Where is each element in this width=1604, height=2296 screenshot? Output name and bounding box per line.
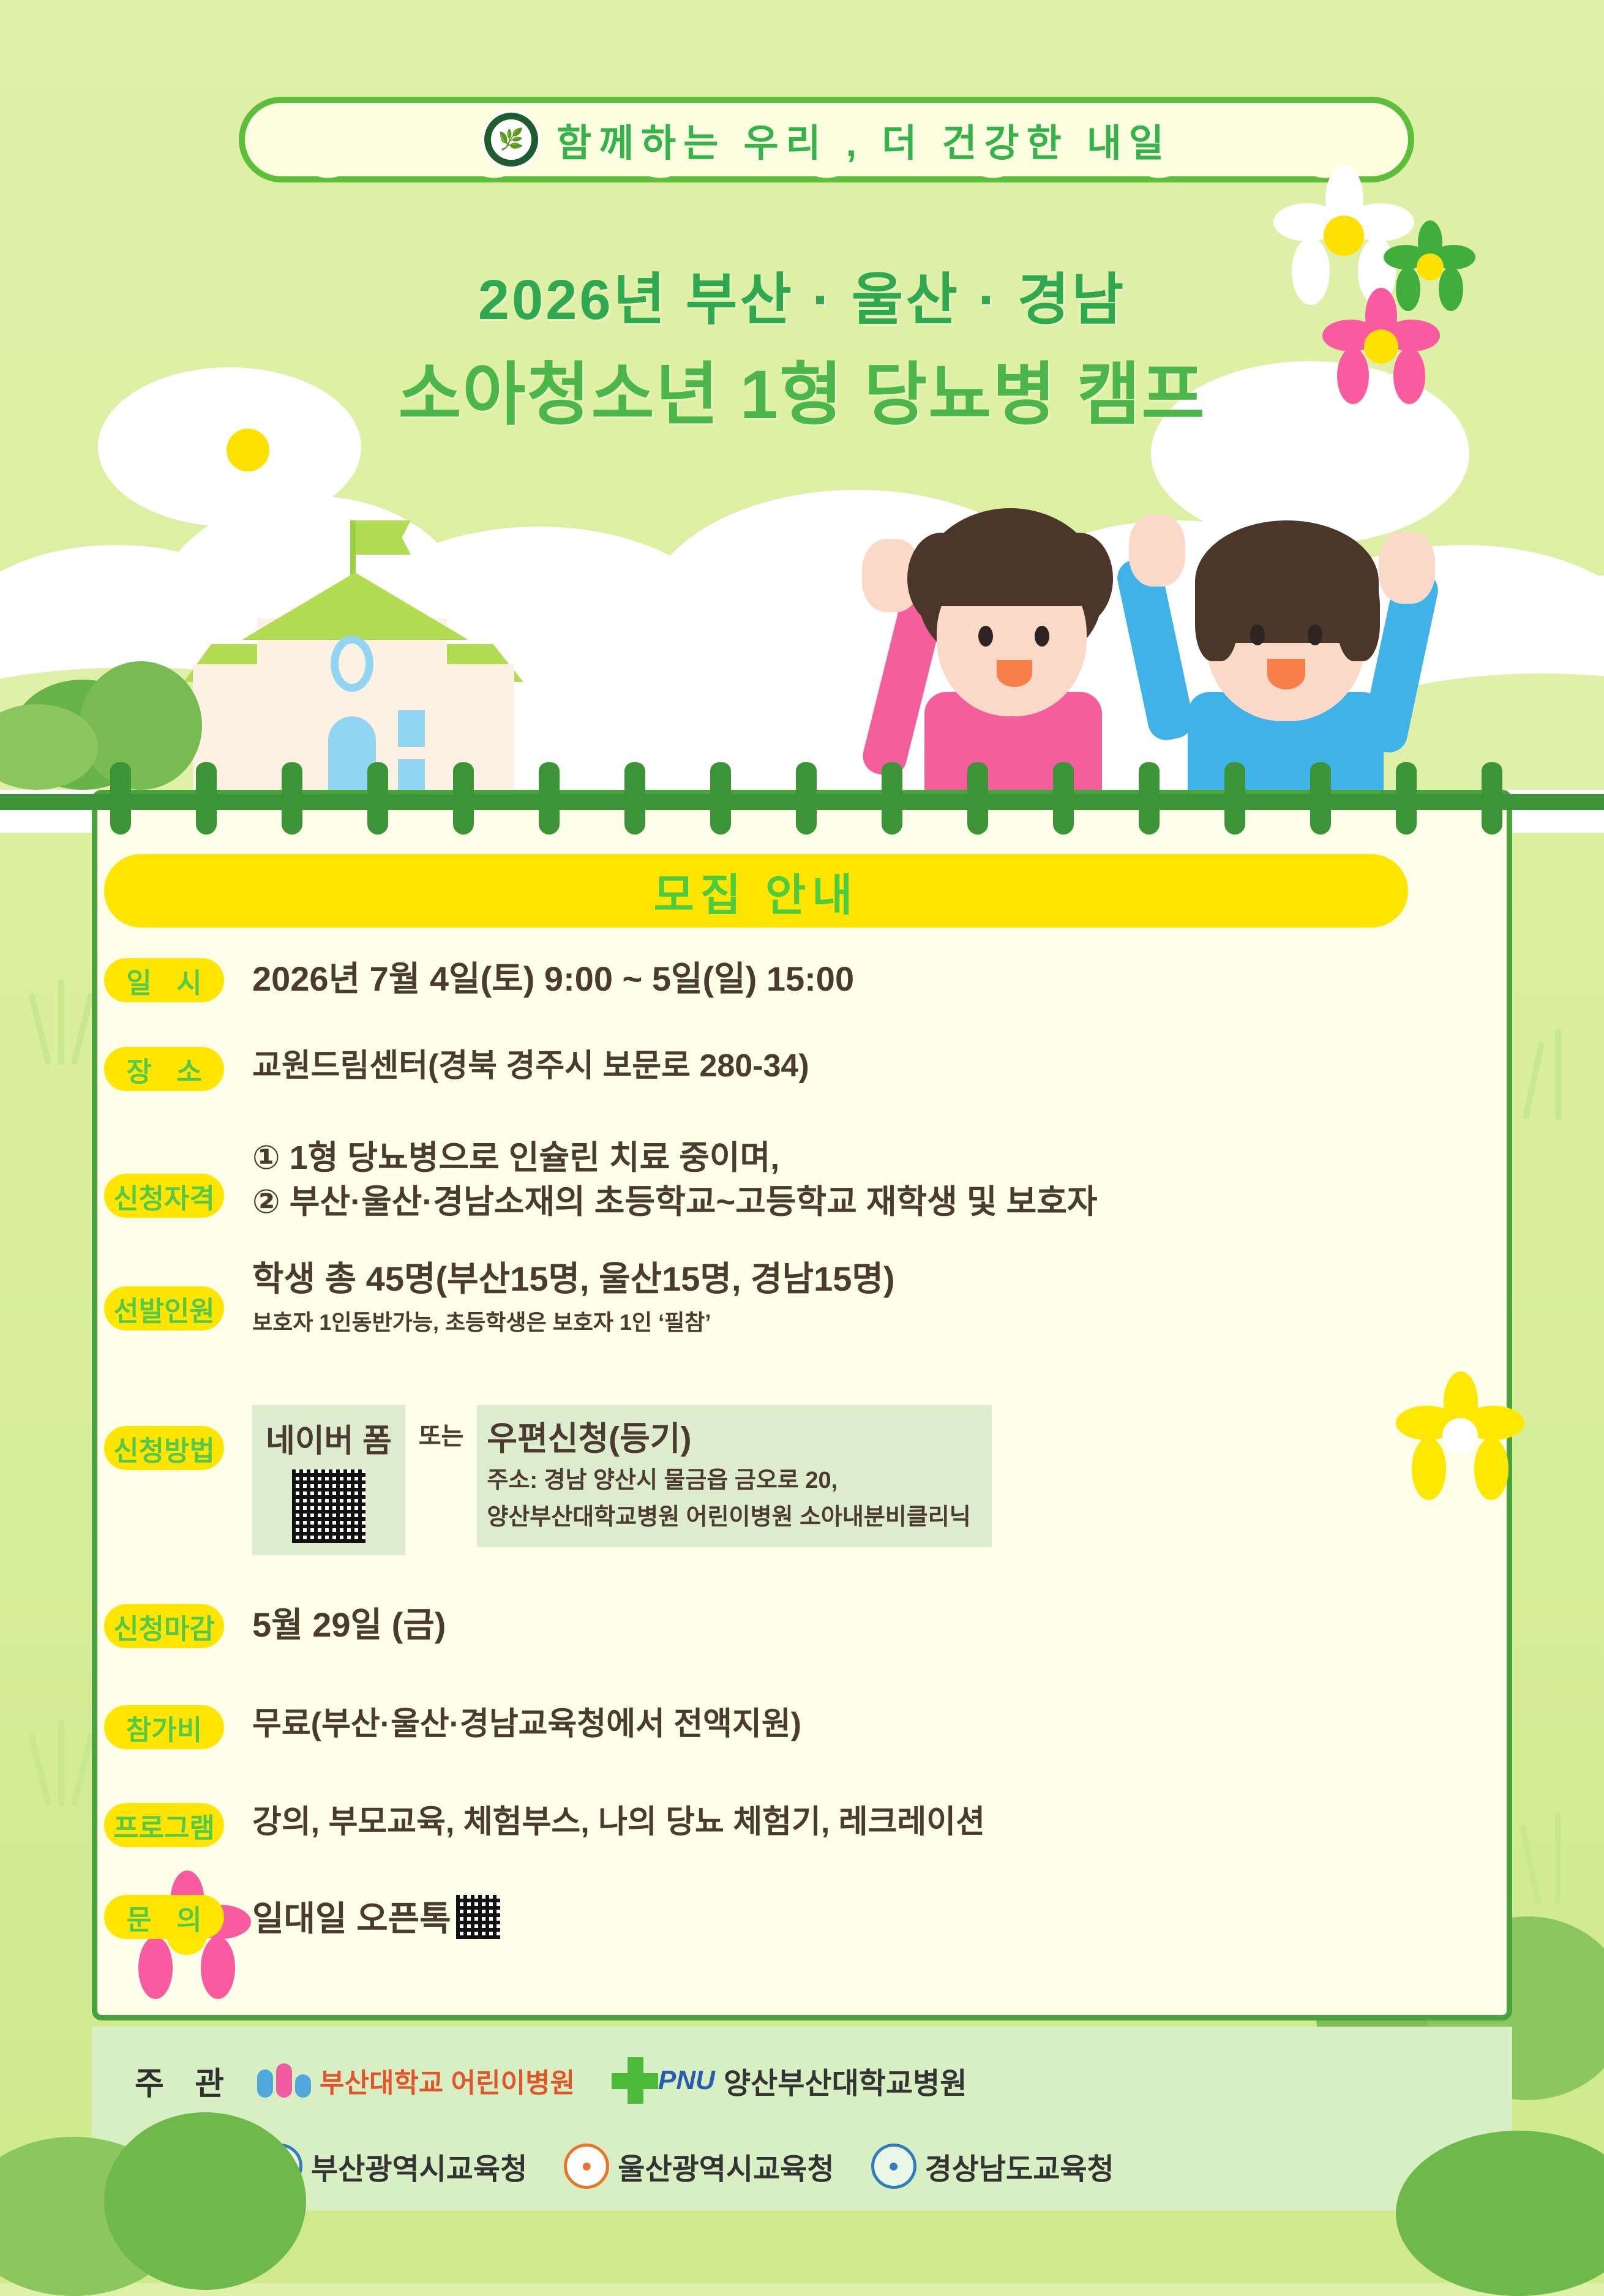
info-row-deadline: 신청마감 5월 29일 (금)	[0, 1604, 1420, 1648]
label-fee: 참가비	[104, 1705, 224, 1749]
value-deadline: 5월 29일 (금)	[252, 1604, 1420, 1646]
naver-form-block[interactable]: 네이버 폼	[252, 1405, 405, 1555]
organizer-org-ulsan: ● 울산광역시교육청	[564, 2144, 834, 2189]
flower-white-icon	[171, 373, 324, 527]
value-program: 강의, 부모교육, 체험부스, 나의 당뇨 체험기, 레크레이션	[252, 1803, 1420, 1842]
label-eligibility: 신청자격	[104, 1174, 224, 1218]
host-org-pnuch: 부산대학교 어린이병원	[257, 2061, 575, 2100]
organizer-name-3: 경상남도교육청	[925, 2145, 1114, 2188]
label-apply-method: 신청방법	[104, 1426, 224, 1470]
host-org-pnuyh: PNU 양산부산대학교병원	[612, 2057, 967, 2104]
diabetes-camp-emblem-icon: 🌿	[482, 110, 541, 169]
grass-blade	[1555, 1029, 1561, 1120]
label-datetime: 일 시	[104, 958, 224, 1002]
postal-apply-title: 우편신청(등기)	[487, 1411, 970, 1460]
grass-blade	[1523, 1041, 1545, 1120]
value-contact: 일대일 오픈톡	[252, 1895, 1420, 1940]
label-quota: 선발인원	[104, 1286, 224, 1330]
boy-character	[1114, 478, 1494, 808]
value-venue: 교원드림센터(경북 경주시 보문로 280-34)	[252, 1047, 1420, 1086]
organizer-org-gyeongnam: ● 경상남도교육청	[871, 2144, 1114, 2189]
postal-address-line-1: 주소: 경남 양산시 물금읍 금오로 20,	[487, 1465, 970, 1496]
label-program: 프로그램	[104, 1803, 224, 1847]
ulsan-edu-logo-icon: ●	[564, 2144, 609, 2189]
host-org-name-1: 부산대학교 어린이병원	[320, 2061, 575, 2100]
postal-apply-block: 우편신청(등기) 주소: 경남 양산시 물금읍 금오로 20, 양산부산대학교병…	[477, 1405, 991, 1547]
value-quota: 학생 총 45명(부산15명, 울산15명, 경남15명)	[252, 1258, 1420, 1300]
flower-yellow-icon	[1396, 1371, 1524, 1500]
eligibility-line-2: ② 부산·울산·경남소재의 초등학교~고등학교 재학생 및 보호자	[252, 1180, 1420, 1224]
pnuch-logo-icon	[257, 2063, 311, 2098]
pnu-cross-icon	[612, 2057, 658, 2104]
contact-text: 일대일 오픈톡	[252, 1899, 451, 1938]
label-venue: 장 소	[104, 1047, 224, 1091]
flower-pink-icon	[1322, 288, 1439, 404]
info-row-quota: 선발인원 학생 총 45명(부산15명, 울산15명, 경남15명) 보호자 1…	[0, 1258, 1420, 1337]
pnu-logo-text: PNU	[658, 2065, 715, 2096]
postal-address-line-2: 양산부산대학교병원 어린이병원 소아내분비클리닉	[487, 1501, 970, 1533]
host-org-name-2: 양산부산대학교병원	[724, 2059, 967, 2102]
info-row-fee: 참가비 무료(부산·울산·경남교육청에서 전액지원)	[0, 1705, 1420, 1749]
naver-form-qr-code-icon[interactable]	[292, 1469, 365, 1543]
note-quota: 보호자 1인동반가능, 초등학생은 보호자 1인 ‘필참’	[252, 1305, 1420, 1337]
slogan-text: 함께하는 우리 , 더 건강한 내일	[557, 112, 1171, 167]
slogan-banner: 🌿 함께하는 우리 , 더 건강한 내일	[239, 97, 1414, 182]
info-row-datetime: 일 시 2026년 7월 4일(토) 9:00 ~ 5일(일) 15:00	[0, 958, 1420, 1002]
info-row-eligibility: 신청자격 ① 1형 당뇨병으로 인슐린 치료 중이며, ② 부산·울산·경남소재…	[0, 1136, 1420, 1225]
label-deadline: 신청마감	[104, 1604, 224, 1648]
grass-blade	[1555, 1812, 1561, 1904]
info-row-venue: 장 소 교원드림센터(경북 경주시 보문로 280-34)	[0, 1047, 1420, 1091]
apply-or-text: 또는	[419, 1416, 464, 1452]
school-building-icon	[184, 514, 527, 796]
fence	[0, 762, 1604, 836]
grass-blade	[1520, 1825, 1542, 1904]
organizer-name-2: 울산광역시교육청	[618, 2145, 834, 2188]
footer-row-host: 주 관 부산대학교 어린이병원 PNU 양산부산대학교병원	[92, 2038, 1512, 2123]
openchat-qr-code-icon[interactable]	[456, 1895, 500, 1939]
organizer-name-1: 부산광역시교육청	[311, 2145, 527, 2188]
bush-icon	[104, 2112, 306, 2290]
poster-root: 🌿 함께하는 우리 , 더 건강한 내일 2026년 부산 · 울산 · 경남 …	[0, 0, 1604, 2283]
host-label: 주 관	[135, 2058, 257, 2104]
value-fee: 무료(부산·울산·경남교육청에서 전액지원)	[252, 1705, 1420, 1744]
section-heading-text: 모집 안내	[654, 859, 859, 923]
footer-organizations: 주 관 부산대학교 어린이병원 PNU 양산부산대학교병원 주 최 ❄ 부산광역	[92, 2027, 1512, 2210]
eligibility-line-1: ① 1형 당뇨병으로 인슐린 치료 중이며,	[252, 1136, 1420, 1180]
label-contact: 문 의	[104, 1895, 224, 1939]
children-illustration	[851, 484, 1524, 802]
info-row-apply-method: 신청방법 네이버 폼 또는 우편신청(등기) 주소: 경남 양산시 물금읍 금오…	[0, 1405, 1420, 1555]
value-datetime: 2026년 7월 4일(토) 9:00 ~ 5일(일) 15:00	[252, 958, 1420, 1000]
section-heading: 모집 안내	[104, 854, 1408, 928]
gyeongnam-edu-logo-icon: ●	[871, 2144, 916, 2189]
naver-form-label: 네이버 폼	[266, 1415, 392, 1461]
info-row-contact: 문 의 일대일 오픈톡	[0, 1895, 1420, 1940]
info-row-program: 프로그램 강의, 부모교육, 체험부스, 나의 당뇨 체험기, 레크레이션	[0, 1803, 1420, 1847]
